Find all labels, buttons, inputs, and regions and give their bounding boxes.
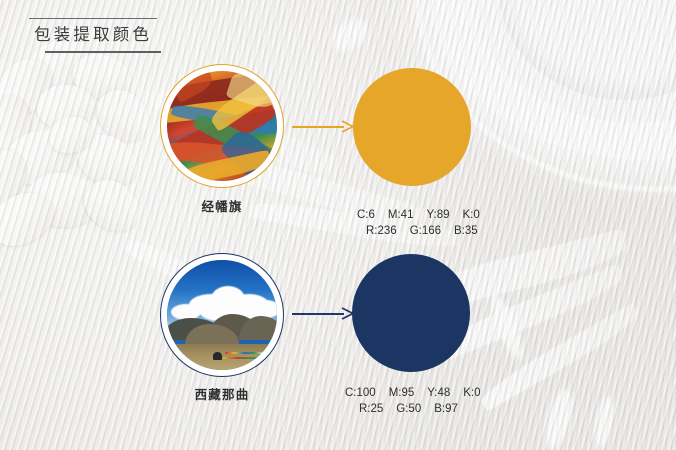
cmyk-line-gold: C:6M:41Y:89K:0 (357, 207, 480, 223)
photo-prayer-flags (167, 71, 277, 181)
arrow-shaft-gold (292, 126, 344, 128)
arrow-shaft-navy (292, 313, 344, 315)
prayer-flags-image (167, 71, 277, 181)
color-codes-gold: C:6M:41Y:89K:0 R:236G:166B:35 (357, 207, 480, 239)
tibet-landscape-image (167, 260, 277, 370)
cmyk-line-navy: C:100M:95Y:48K:0 (345, 385, 481, 401)
arrow-navy (292, 307, 354, 321)
background-rib-texture (0, 0, 676, 450)
color-swatch-navy[interactable] (352, 254, 470, 372)
title-rule-bottom (45, 51, 161, 53)
title-rule-top (29, 18, 157, 19)
photo-thumbnail-prayer-flags[interactable]: 经幡旗 (160, 64, 284, 188)
rgb-g-navy: G:50 (396, 403, 421, 415)
white-bowl-middle (470, 0, 676, 126)
photo-label-prayer-flags: 经幡旗 (160, 196, 284, 215)
background-base (0, 0, 676, 450)
rgb-r-navy: R:25 (359, 403, 383, 415)
cmyk-m-gold: M:41 (388, 209, 414, 221)
background-rib-texture-secondary (0, 0, 676, 450)
white-flower-motif (0, 45, 180, 250)
rgb-b-gold: B:35 (454, 225, 478, 237)
cmyk-k-navy: K:0 (463, 387, 480, 399)
rgb-b-navy: B:97 (434, 403, 458, 415)
rgb-r-gold: R:236 (366, 225, 397, 237)
background-motifs (0, 0, 676, 450)
cmyk-y-gold: Y:89 (426, 209, 449, 221)
color-extraction-board: 包装提取颜色 经幡旗 (0, 0, 676, 450)
cmyk-m-navy: M:95 (389, 387, 415, 399)
photo-thumbnail-tibet-nagqu[interactable]: 西藏那曲 (160, 253, 284, 377)
page-title: 包装提取颜色 (34, 26, 228, 46)
rgb-line-gold: R:236G:166B:35 (366, 223, 480, 239)
cmyk-y-navy: Y:48 (427, 387, 450, 399)
cmyk-c-navy: C:100 (345, 387, 376, 399)
cmyk-k-gold: K:0 (463, 209, 480, 221)
white-bowl-inner (500, 0, 676, 100)
rgb-g-gold: G:166 (410, 225, 441, 237)
cmyk-c-gold: C:6 (357, 209, 375, 221)
rgb-line-navy: R:25G:50B:97 (359, 401, 481, 417)
photo-tibet-nagqu (167, 260, 277, 370)
tent (213, 352, 222, 360)
color-swatch-gold[interactable] (353, 68, 471, 186)
color-codes-navy: C:100M:95Y:48K:0 R:25G:50B:97 (345, 385, 481, 417)
arrow-gold (292, 120, 354, 134)
header: 包装提取颜色 (28, 18, 228, 53)
photo-label-tibet-nagqu: 西藏那曲 (160, 384, 284, 403)
